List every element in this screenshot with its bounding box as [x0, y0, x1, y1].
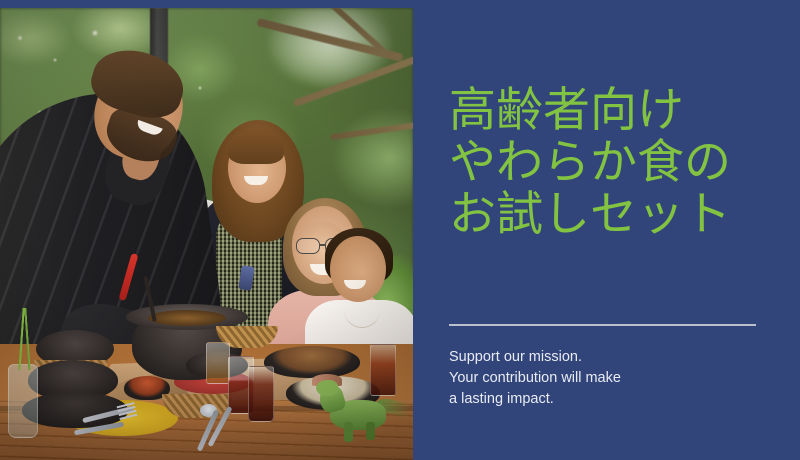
body-text: Support our mission. Your contribution w… [449, 347, 779, 410]
headline: 高齢者向け やわらか食の お試しセット [449, 85, 789, 241]
photo-vignette [0, 8, 413, 460]
divider [449, 324, 756, 326]
family-meal-photo [0, 8, 413, 460]
text-panel: 高齢者向け やわらか食の お試しセット Support our mission.… [413, 0, 800, 460]
donation-banner: 高齢者向け やわらか食の お試しセット Support our mission.… [0, 0, 800, 460]
